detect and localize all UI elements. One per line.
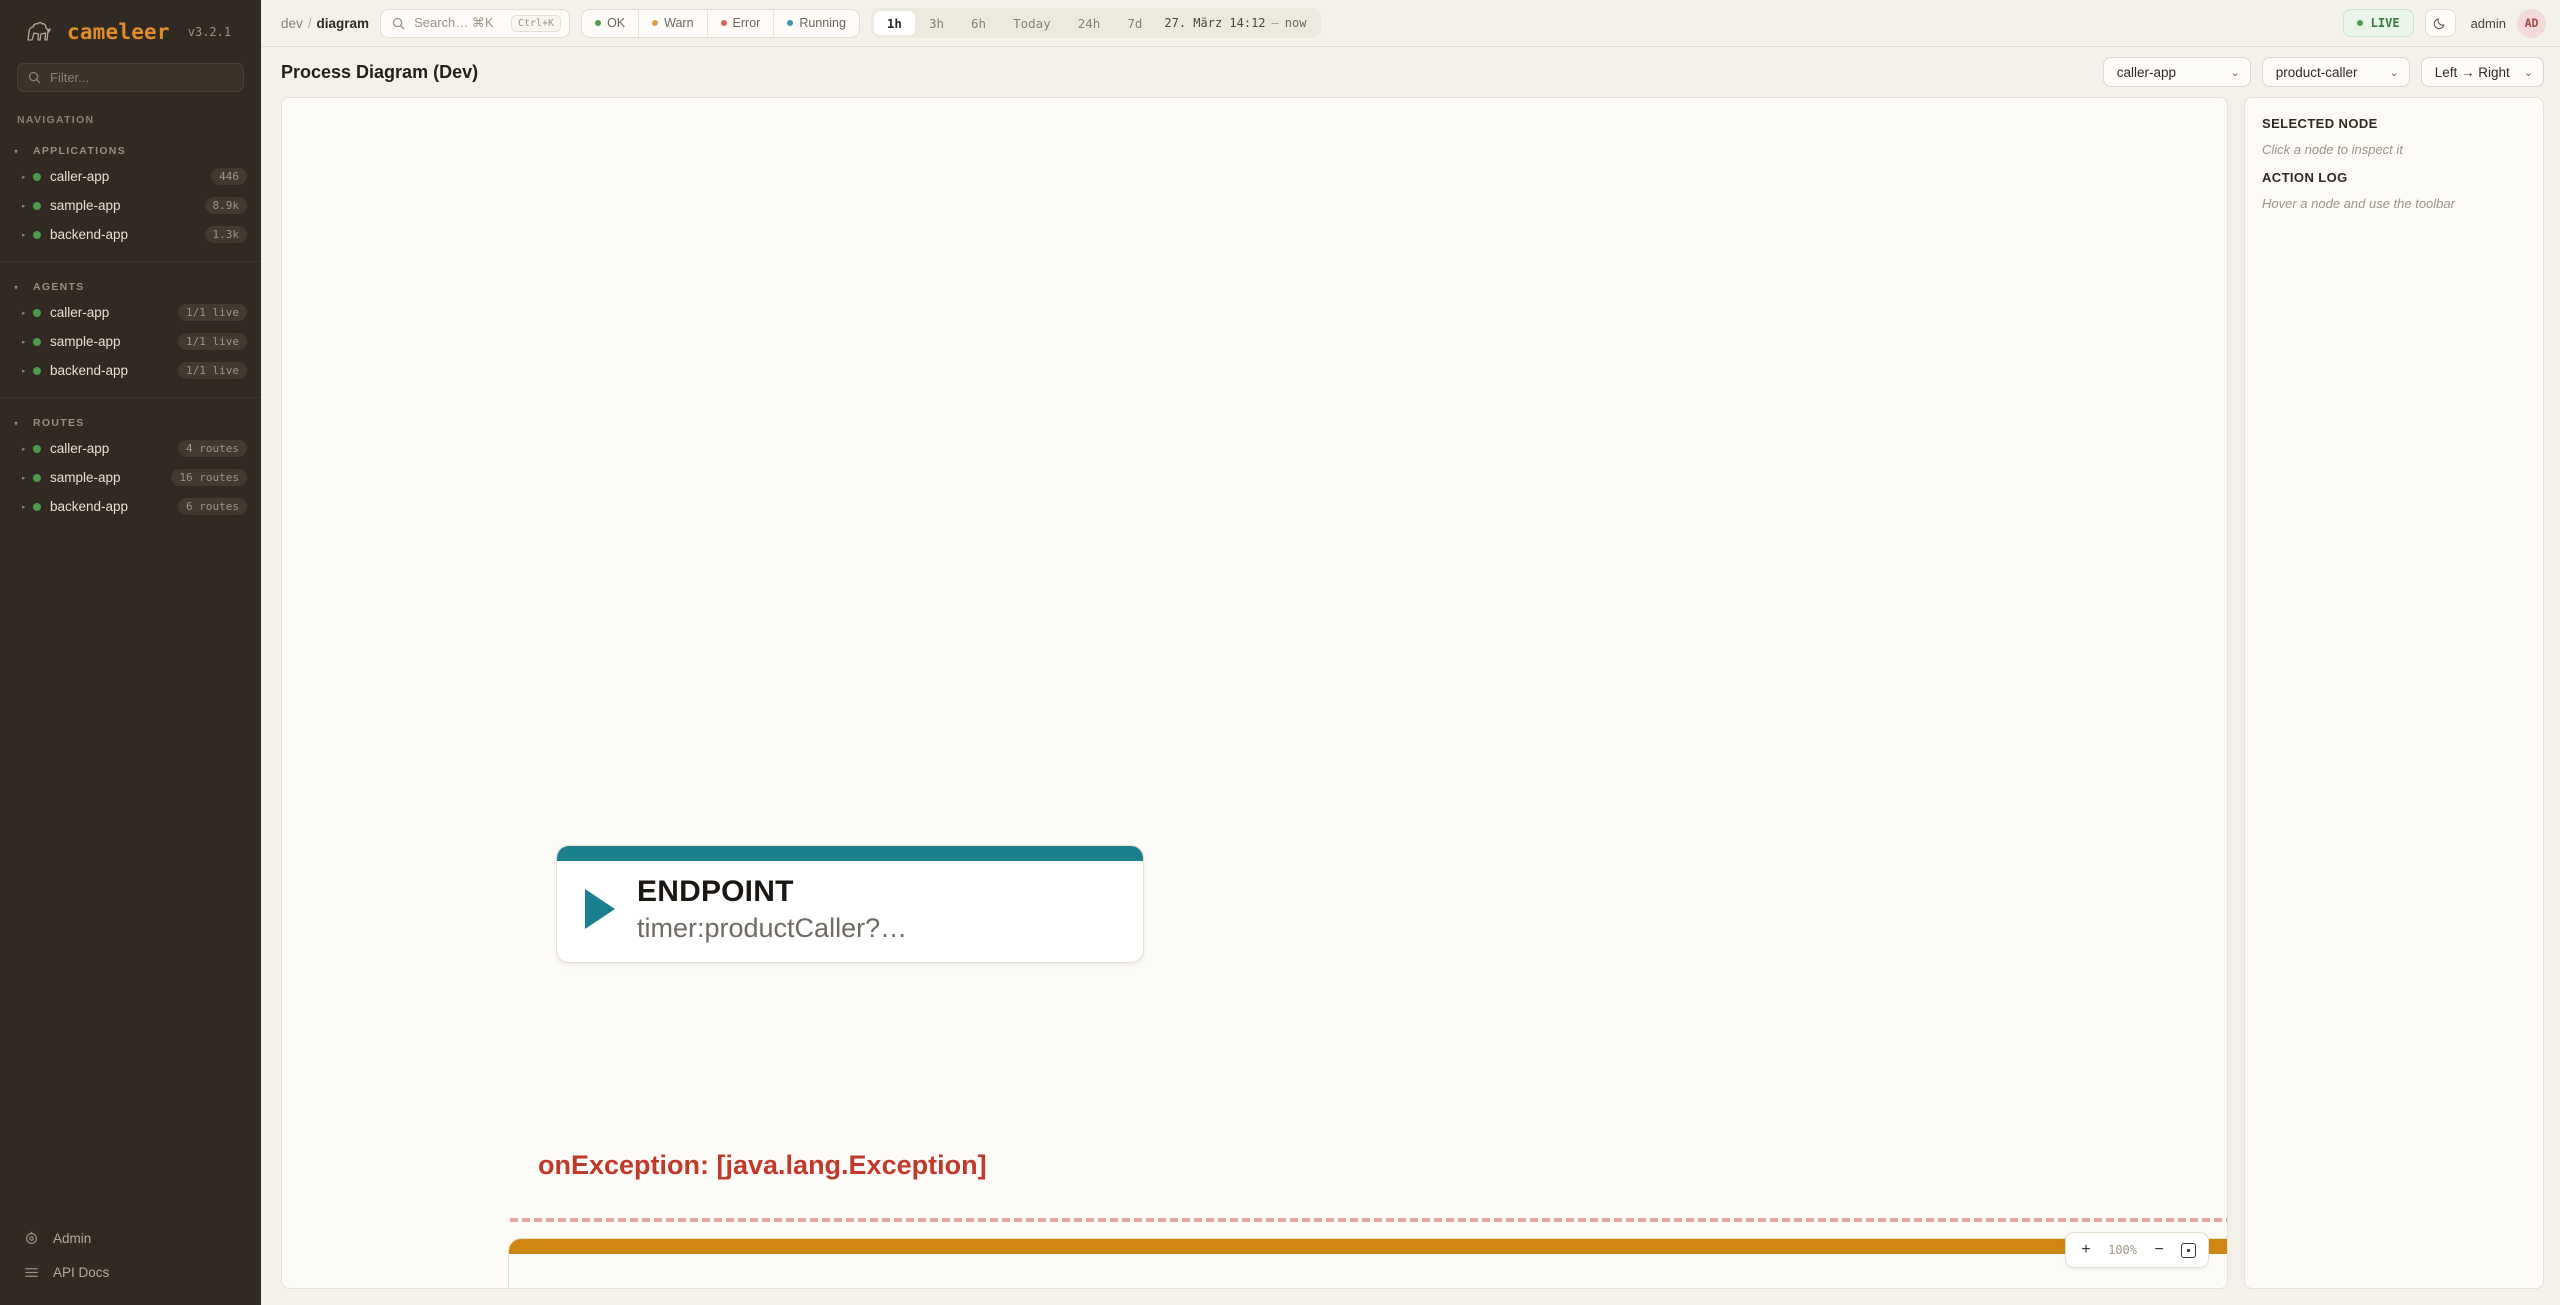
search-placeholder: Search… ⌘K bbox=[414, 15, 502, 31]
status-dot bbox=[33, 367, 41, 375]
zoom-out-button[interactable]: − bbox=[2146, 1238, 2172, 1262]
action-log-hint: Hover a node and use the toolbar bbox=[2262, 196, 2526, 211]
status-label: Error bbox=[733, 16, 761, 30]
status-filter-error[interactable]: Error bbox=[708, 10, 775, 37]
exception-label: onException: [java.lang.Exception] bbox=[538, 1150, 987, 1181]
sidebar-item-routes-caller-app[interactable]: ▸ caller-app 4 routes bbox=[0, 434, 261, 463]
node-body: ENDPOINT timer:productCaller?… bbox=[557, 861, 1143, 962]
play-icon bbox=[585, 889, 615, 929]
breadcrumb-root[interactable]: dev bbox=[281, 16, 303, 31]
section-label: AGENTS bbox=[33, 281, 85, 293]
direction-select-value: Left → Right bbox=[2435, 65, 2510, 80]
sidebar-item-api-docs[interactable]: API Docs bbox=[0, 1255, 261, 1289]
status-filter-running[interactable]: Running bbox=[774, 10, 859, 37]
search-input[interactable]: Search… ⌘K Ctrl+K bbox=[380, 9, 570, 38]
item-label: backend-app bbox=[50, 227, 205, 242]
item-badge: 1/1 live bbox=[178, 333, 247, 350]
sidebar-section-routes: ▾ ROUTES ▸ caller-app 4 routes ▸ sample-… bbox=[0, 397, 261, 521]
zoom-level: 100% bbox=[2102, 1243, 2143, 1257]
sidebar-item-applications-sample-app[interactable]: ▸ sample-app 8.9k bbox=[0, 191, 261, 220]
section-label: ROUTES bbox=[33, 417, 85, 429]
selected-node-hint: Click a node to inspect it bbox=[2262, 142, 2526, 157]
status-dot-running bbox=[787, 20, 793, 26]
live-label: LIVE bbox=[2371, 16, 2400, 30]
item-label: backend-app bbox=[50, 363, 178, 378]
fit-view-button[interactable] bbox=[2175, 1238, 2201, 1262]
item-label: caller-app bbox=[50, 169, 211, 184]
chevron-right-icon: ▸ bbox=[22, 231, 33, 239]
avatar[interactable]: AD bbox=[2517, 9, 2546, 38]
chevron-right-icon: ▸ bbox=[22, 338, 33, 346]
footer-label: Admin bbox=[53, 1231, 91, 1246]
direction-select[interactable]: Left → Right ⌄ bbox=[2421, 57, 2544, 87]
action-log-title: ACTION LOG bbox=[2262, 170, 2526, 185]
chevron-right-icon: ▸ bbox=[22, 445, 33, 453]
page-header: Process Diagram (Dev) caller-app ⌄ produ… bbox=[261, 47, 2560, 97]
item-badge: 1.3k bbox=[205, 226, 248, 243]
time-range-7d[interactable]: 7d bbox=[1114, 11, 1155, 35]
brand-logo[interactable]: cameleer v3.2.1 bbox=[0, 0, 261, 60]
inspector-panel: SELECTED NODE Click a node to inspect it… bbox=[2244, 97, 2544, 1289]
node-header-bar bbox=[557, 846, 1143, 861]
sidebar-item-agents-sample-app[interactable]: ▸ sample-app 1/1 live bbox=[0, 327, 261, 356]
item-badge: 446 bbox=[211, 168, 247, 185]
status-dot bbox=[33, 445, 41, 453]
menu-icon bbox=[24, 1265, 39, 1280]
filter-box[interactable] bbox=[17, 63, 244, 92]
live-status-badge[interactable]: LIVE bbox=[2343, 9, 2414, 37]
status-label: Running bbox=[799, 16, 846, 30]
status-label: Warn bbox=[664, 16, 693, 30]
breadcrumb-current: diagram bbox=[317, 16, 370, 31]
status-dot-ok bbox=[595, 20, 601, 26]
status-dot bbox=[33, 474, 41, 482]
search-icon bbox=[28, 71, 41, 84]
selected-node-title: SELECTED NODE bbox=[2262, 116, 2526, 131]
chevron-right-icon: ▸ bbox=[22, 503, 33, 511]
item-badge: 16 routes bbox=[171, 469, 247, 486]
item-label: backend-app bbox=[50, 499, 178, 514]
section-header-applications[interactable]: ▾ APPLICATIONS bbox=[0, 140, 261, 162]
sidebar-item-agents-backend-app[interactable]: ▸ backend-app 1/1 live bbox=[0, 356, 261, 385]
diagram-node-endpoint[interactable]: ENDPOINT timer:productCaller?… bbox=[556, 845, 1144, 963]
chevron-right-icon: ▸ bbox=[22, 173, 33, 181]
time-range-1h[interactable]: 1h bbox=[874, 11, 915, 35]
status-dot bbox=[33, 202, 41, 210]
sidebar-filter bbox=[0, 60, 261, 92]
content-area: ENDPOINT timer:productCaller?… onExcepti… bbox=[261, 97, 2560, 1305]
time-range-display[interactable]: 27. März 14:12—now bbox=[1156, 16, 1318, 30]
diagram-node-orange-wide[interactable] bbox=[508, 1238, 2228, 1289]
time-dash: — bbox=[1272, 16, 1279, 30]
status-dot bbox=[33, 231, 41, 239]
status-filter-warn[interactable]: Warn bbox=[639, 10, 707, 37]
chevron-down-icon: ⌄ bbox=[2390, 66, 2399, 79]
sidebar-item-applications-caller-app[interactable]: ▸ caller-app 446 bbox=[0, 162, 261, 191]
section-header-agents[interactable]: ▾ AGENTS bbox=[0, 276, 261, 298]
search-shortcut-badge: Ctrl+K bbox=[511, 15, 561, 32]
time-range-today[interactable]: Today bbox=[1000, 11, 1064, 35]
item-label: sample-app bbox=[50, 198, 205, 213]
footer-label: API Docs bbox=[53, 1265, 109, 1280]
moon-icon bbox=[2433, 16, 2447, 30]
status-dot bbox=[33, 503, 41, 511]
item-badge: 1/1 live bbox=[178, 304, 247, 321]
live-dot bbox=[2357, 20, 2363, 26]
exception-divider bbox=[510, 1218, 2228, 1222]
status-dot-error bbox=[721, 20, 727, 26]
item-badge: 6 routes bbox=[178, 498, 247, 515]
breadcrumb-separator: / bbox=[308, 16, 312, 31]
time-from: 27. März 14:12 bbox=[1164, 16, 1265, 30]
item-label: sample-app bbox=[50, 470, 171, 485]
sidebar-item-agents-caller-app[interactable]: ▸ caller-app 1/1 live bbox=[0, 298, 261, 327]
time-range-group: 1h 3h 6h Today 24h 7d 27. März 14:12—now bbox=[871, 8, 1322, 38]
sidebar-item-routes-backend-app[interactable]: ▸ backend-app 6 routes bbox=[0, 492, 261, 521]
chevron-right-icon: ▸ bbox=[22, 474, 33, 482]
item-badge: 8.9k bbox=[205, 197, 248, 214]
item-badge: 1/1 live bbox=[178, 362, 247, 379]
section-header-routes[interactable]: ▾ ROUTES bbox=[0, 412, 261, 434]
sidebar-item-admin[interactable]: Admin bbox=[0, 1221, 261, 1255]
diagram-canvas[interactable]: ENDPOINT timer:productCaller?… onExcepti… bbox=[281, 97, 2228, 1289]
application-select[interactable]: caller-app ⌄ bbox=[2103, 57, 2251, 87]
topbar: dev/diagram Search… ⌘K Ctrl+K OK Warn bbox=[261, 0, 2560, 47]
chevron-down-icon: ▾ bbox=[14, 283, 23, 292]
time-range-3h[interactable]: 3h bbox=[916, 11, 957, 35]
chevron-right-icon: ▸ bbox=[22, 202, 33, 210]
sidebar-section-applications: ▾ APPLICATIONS ▸ caller-app 446 ▸ sample… bbox=[0, 126, 261, 249]
fit-view-icon bbox=[2181, 1243, 2196, 1258]
route-select[interactable]: product-caller ⌄ bbox=[2262, 57, 2410, 87]
theme-toggle-button[interactable] bbox=[2425, 9, 2456, 37]
item-label: sample-app bbox=[50, 334, 178, 349]
gear-icon bbox=[24, 1231, 39, 1246]
user-name: admin bbox=[2471, 16, 2506, 31]
chevron-right-icon: ▸ bbox=[22, 367, 33, 375]
status-label: OK bbox=[607, 16, 625, 30]
time-range-6h[interactable]: 6h bbox=[958, 11, 999, 35]
node-kind: ENDPOINT bbox=[637, 875, 907, 910]
route-select-value: product-caller bbox=[2276, 65, 2358, 80]
zoom-controls: + 100% − bbox=[2065, 1232, 2209, 1268]
brand-version: v3.2.1 bbox=[188, 25, 231, 39]
sidebar-footer: Admin API Docs bbox=[0, 1221, 261, 1305]
node-uri: timer:productCaller?… bbox=[637, 912, 907, 944]
node-header-bar bbox=[509, 1239, 2228, 1254]
item-badge: 4 routes bbox=[178, 440, 247, 457]
status-dot bbox=[33, 173, 41, 181]
chevron-down-icon: ⌄ bbox=[2524, 66, 2533, 79]
application-select-value: caller-app bbox=[2117, 65, 2176, 80]
camel-icon bbox=[24, 18, 54, 46]
sidebar: cameleer v3.2.1 NAVIGATION ▾ APPLICATION… bbox=[0, 0, 261, 1305]
zoom-in-button[interactable]: + bbox=[2073, 1238, 2099, 1262]
status-dot-warn bbox=[652, 20, 658, 26]
item-label: caller-app bbox=[50, 441, 178, 456]
node-text: ENDPOINT timer:productCaller?… bbox=[637, 875, 907, 944]
status-filter-ok[interactable]: OK bbox=[582, 10, 639, 37]
sidebar-section-agents: ▾ AGENTS ▸ caller-app 1/1 live ▸ sample-… bbox=[0, 261, 261, 385]
chevron-down-icon: ▾ bbox=[14, 147, 23, 156]
main-area: dev/diagram Search… ⌘K Ctrl+K OK Warn bbox=[261, 0, 2560, 1305]
sidebar-item-routes-sample-app[interactable]: ▸ sample-app 16 routes bbox=[0, 463, 261, 492]
chevron-right-icon: ▸ bbox=[22, 309, 33, 317]
sidebar-item-applications-backend-app[interactable]: ▸ backend-app 1.3k bbox=[0, 220, 261, 249]
status-dot bbox=[33, 309, 41, 317]
filter-input[interactable] bbox=[50, 70, 233, 85]
app-root: cameleer v3.2.1 NAVIGATION ▾ APPLICATION… bbox=[0, 0, 2560, 1305]
page-title: Process Diagram (Dev) bbox=[281, 62, 478, 83]
item-label: caller-app bbox=[50, 305, 178, 320]
breadcrumb[interactable]: dev/diagram bbox=[281, 16, 369, 31]
navigation-heading: NAVIGATION bbox=[0, 92, 261, 126]
section-label: APPLICATIONS bbox=[33, 145, 126, 157]
status-dot bbox=[33, 338, 41, 346]
time-to: now bbox=[1285, 16, 1307, 30]
chevron-down-icon: ⌄ bbox=[2231, 66, 2240, 79]
brand-name: cameleer bbox=[67, 20, 170, 44]
search-icon bbox=[392, 17, 405, 30]
chevron-down-icon: ▾ bbox=[14, 419, 23, 428]
status-filter-group: OK Warn Error Running bbox=[581, 9, 860, 38]
time-range-24h[interactable]: 24h bbox=[1065, 11, 1114, 35]
